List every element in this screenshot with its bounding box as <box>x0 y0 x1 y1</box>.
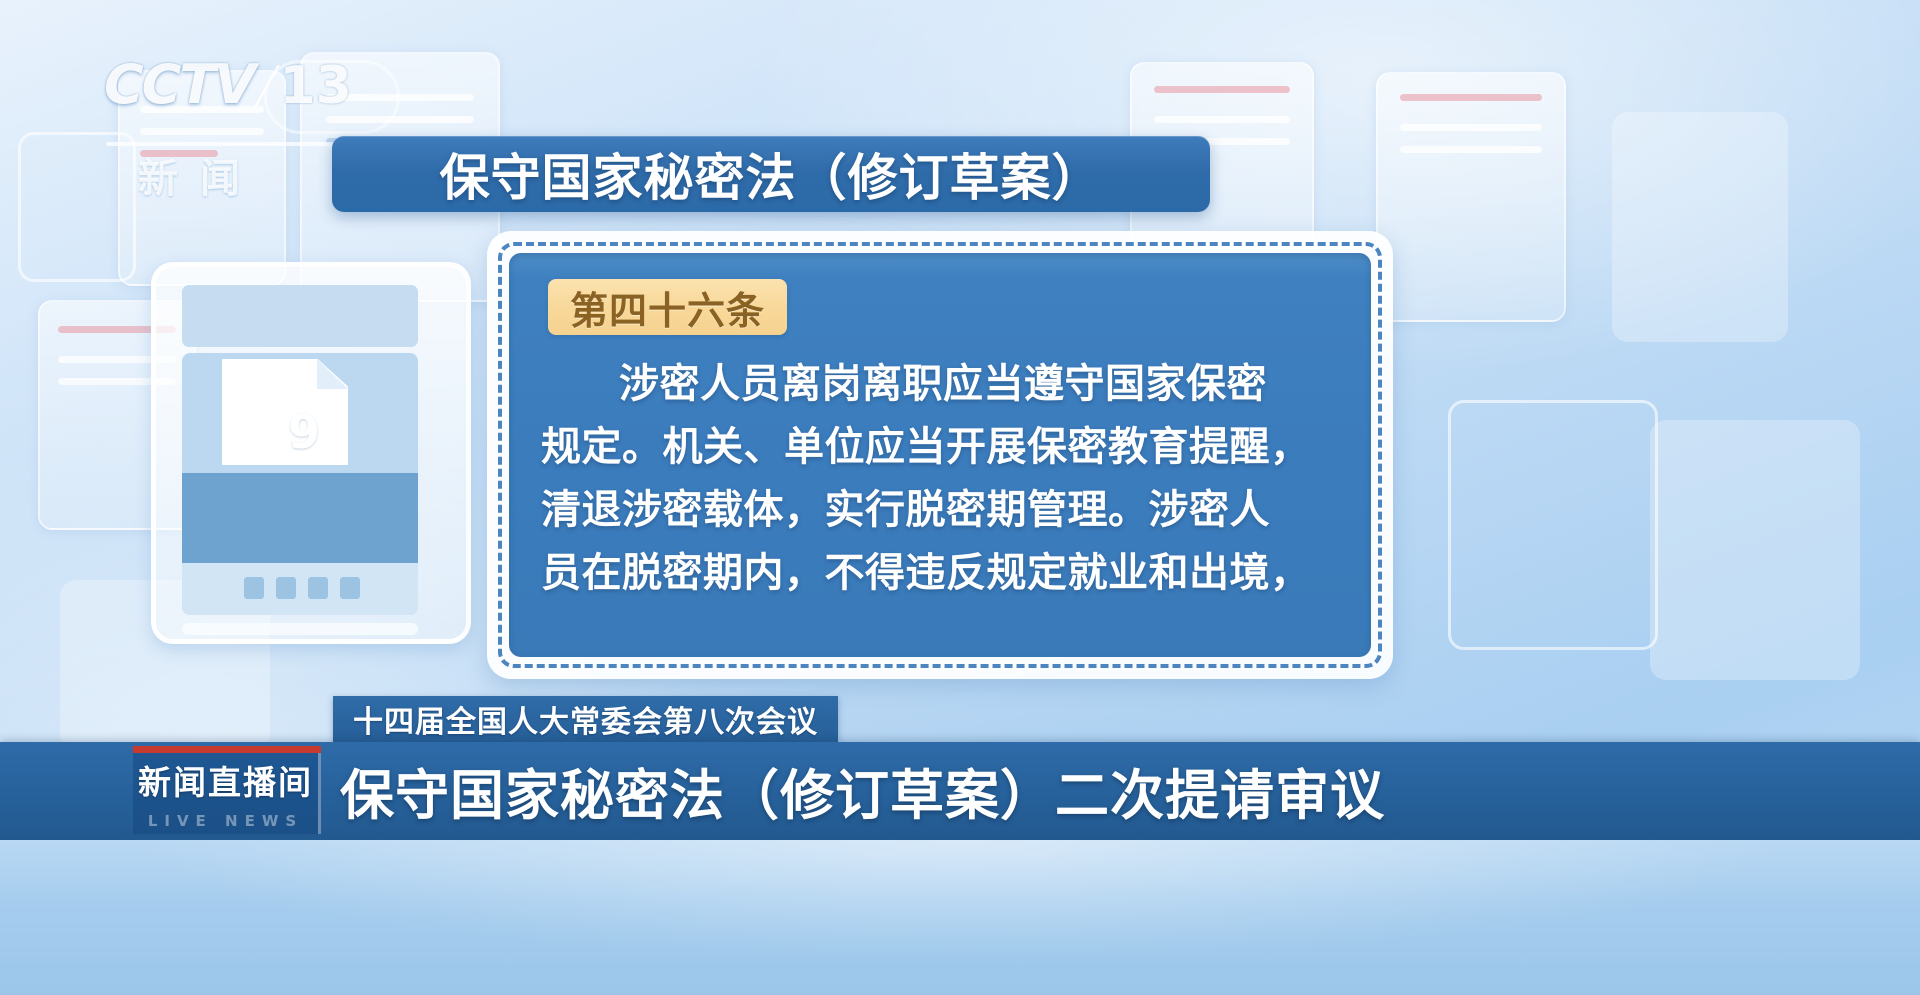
article-body-line-2: 规定。机关、单位应当开展保密教育提醒， <box>541 416 1341 479</box>
article-number-text: 第四十六条 <box>570 280 765 335</box>
illustration-top-strip <box>182 285 418 347</box>
brand-accent-bar <box>133 746 321 753</box>
article-number-badge: 第四十六条 <box>548 279 787 335</box>
article-body: 涉密人员离岗离职应当遵守国家保密 规定。机关、单位应当开展保密教育提醒， 清退涉… <box>541 353 1341 605</box>
article-body-line-4: 员在脱密期内，不得违反规定就业和出境， <box>541 542 1341 605</box>
bottom-background-strip <box>0 840 1920 995</box>
illustration-folder-tray <box>182 563 418 615</box>
news-headline-text: 保守国家秘密法（修订草案）二次提请审议 <box>340 751 1385 830</box>
title-banner: 保守国家秘密法（修订草案） <box>332 136 1210 212</box>
article-card: 第四十六条 涉密人员离岗离职应当遵守国家保密 规定。机关、单位应当开展保密教育提… <box>487 231 1393 679</box>
article-body-line-3: 清退涉密载体，实行脱密期管理。涉密人 <box>541 479 1341 542</box>
deco-soft-2 <box>1650 420 1860 680</box>
document-folder-illustration: 9 <box>151 262 471 644</box>
deco-card-1 <box>118 70 286 286</box>
deco-outline-1 <box>18 132 136 282</box>
article-body-line-1: 涉密人员离岗离职应当遵守国家保密 <box>541 353 1341 416</box>
lower-third-kicker: 十四届全国人大常委会第八次会议 <box>333 696 838 742</box>
article-panel: 第四十六条 涉密人员离岗离职应当遵守国家保密 规定。机关、单位应当开展保密教育提… <box>509 253 1371 657</box>
illustration-dot-4 <box>340 577 360 599</box>
program-brand-name: 新闻直播间 <box>138 756 313 804</box>
program-brand-box: 新闻直播间 LIVE NEWS <box>133 746 321 834</box>
illustration-dot-1 <box>244 577 264 599</box>
illustration-dot-2 <box>276 577 296 599</box>
title-banner-text: 保守国家秘密法（修订草案） <box>440 138 1103 210</box>
illustration-folder-pocket <box>182 473 418 563</box>
illustration-folder: 9 <box>182 353 418 615</box>
deco-outline-2 <box>1448 400 1658 650</box>
illustration-bottom-bar <box>182 623 418 635</box>
lower-third-kicker-text: 十四届全国人大常委会第八次会议 <box>353 697 818 741</box>
illustration-dot-3 <box>308 577 328 599</box>
illustration-page-number: 9 <box>288 405 320 459</box>
deco-card-4 <box>1376 72 1566 322</box>
deco-soft-1 <box>1612 112 1788 342</box>
news-headline: 保守国家秘密法（修订草案）二次提请审议 <box>340 748 1385 832</box>
program-brand-subtitle: LIVE NEWS <box>148 812 303 830</box>
